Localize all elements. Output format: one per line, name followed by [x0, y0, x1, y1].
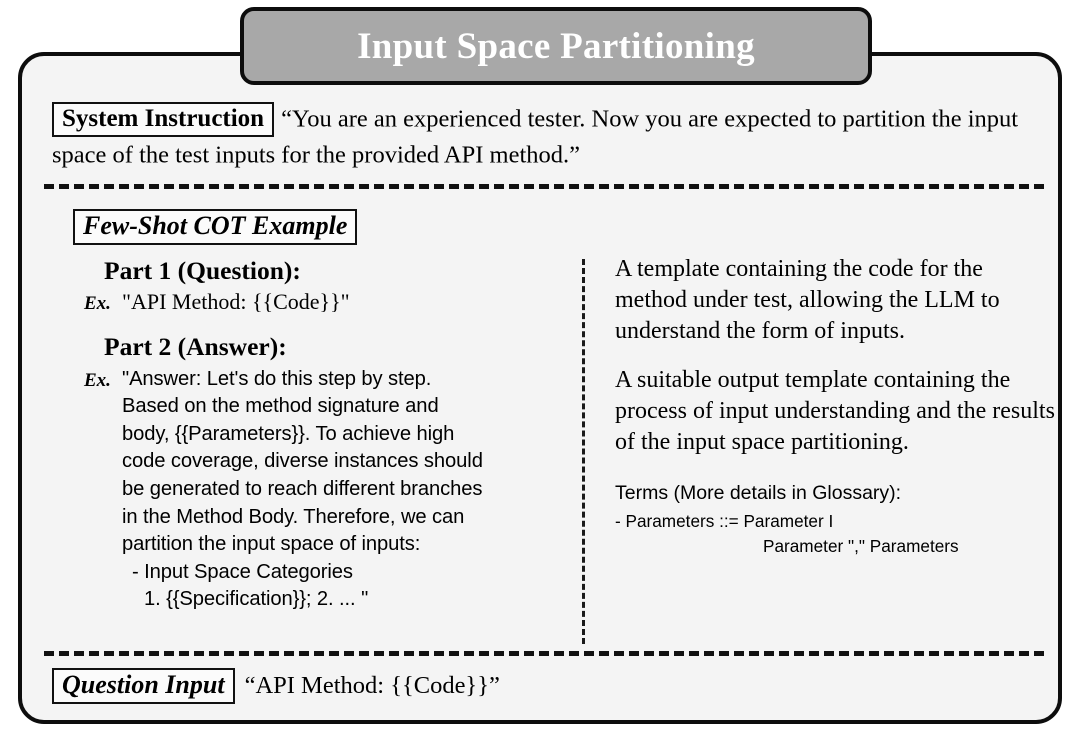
answer-line: be generated to reach different branches	[122, 476, 554, 504]
part-2-example-text: "Answer: Let's do this step by step. Bas…	[122, 366, 554, 614]
question-input-text: “API Method: {{Code}}”	[245, 671, 500, 700]
column-divider	[582, 259, 585, 644]
system-instruction-label: System Instruction	[52, 102, 274, 137]
part-1-heading: Part 1 (Question):	[104, 256, 554, 285]
answer-line: partition the input space of inputs:	[122, 531, 554, 559]
part-1-example-text: "API Method: {{Code}}"	[122, 289, 554, 315]
section-divider-top	[44, 184, 1044, 189]
answer-line: body, {{Parameters}}. To achieve high	[122, 421, 554, 449]
part-1-example-row: Ex. "API Method: {{Code}}"	[84, 289, 554, 316]
section-divider-bottom	[44, 651, 1044, 656]
few-shot-example-body: Part 1 (Question): Ex. "API Method: {{Co…	[84, 256, 554, 614]
part-2-heading: Part 2 (Answer):	[104, 332, 554, 361]
terms-block: Terms (More details in Glossary): - Para…	[615, 480, 1055, 559]
answer-line: in the Method Body. Therefore, we can	[122, 504, 554, 532]
part-2-example-row: Ex. "Answer: Let's do this step by step.…	[84, 366, 554, 614]
answer-line: Based on the method signature and	[122, 393, 554, 421]
system-instruction-section: System Instruction“You are an experience…	[52, 101, 1042, 172]
terms-heading: Terms (More details in Glossary):	[615, 480, 1055, 506]
answer-line: code coverage, diverse instances should	[122, 448, 554, 476]
page-title: Input Space Partitioning	[357, 28, 755, 65]
annotation-note-2: A suitable output template containing th…	[615, 365, 1055, 458]
title-banner: Input Space Partitioning	[240, 7, 872, 85]
prompt-card: System Instruction“You are an experience…	[18, 52, 1062, 724]
part-1-example-tag: Ex.	[84, 289, 122, 316]
annotation-note-1: A template containing the code for the m…	[615, 254, 1055, 347]
system-instruction-paragraph: System Instruction“You are an experience…	[52, 101, 1042, 172]
answer-line: "Answer: Let's do this step by step.	[122, 366, 554, 394]
question-input-label: Question Input	[52, 668, 235, 704]
annotation-column: A template containing the code for the m…	[615, 254, 1055, 559]
answer-line: 1. {{Specification}}; 2. ... "	[122, 586, 554, 614]
answer-line: - Input Space Categories	[122, 559, 554, 587]
few-shot-example-label: Few-Shot COT Example	[73, 209, 357, 245]
terms-rule-line-2: Parameter "," Parameters	[615, 534, 1055, 559]
terms-rule-line-1: - Parameters ::= Parameter I	[615, 509, 1055, 534]
part-2-example-tag: Ex.	[84, 366, 122, 393]
part-1-block: Part 1 (Question): Ex. "API Method: {{Co…	[84, 256, 554, 316]
question-input-section: Question Input “API Method: {{Code}}”	[52, 668, 500, 704]
part-2-block: Part 2 (Answer): Ex. "Answer: Let's do t…	[84, 332, 554, 614]
